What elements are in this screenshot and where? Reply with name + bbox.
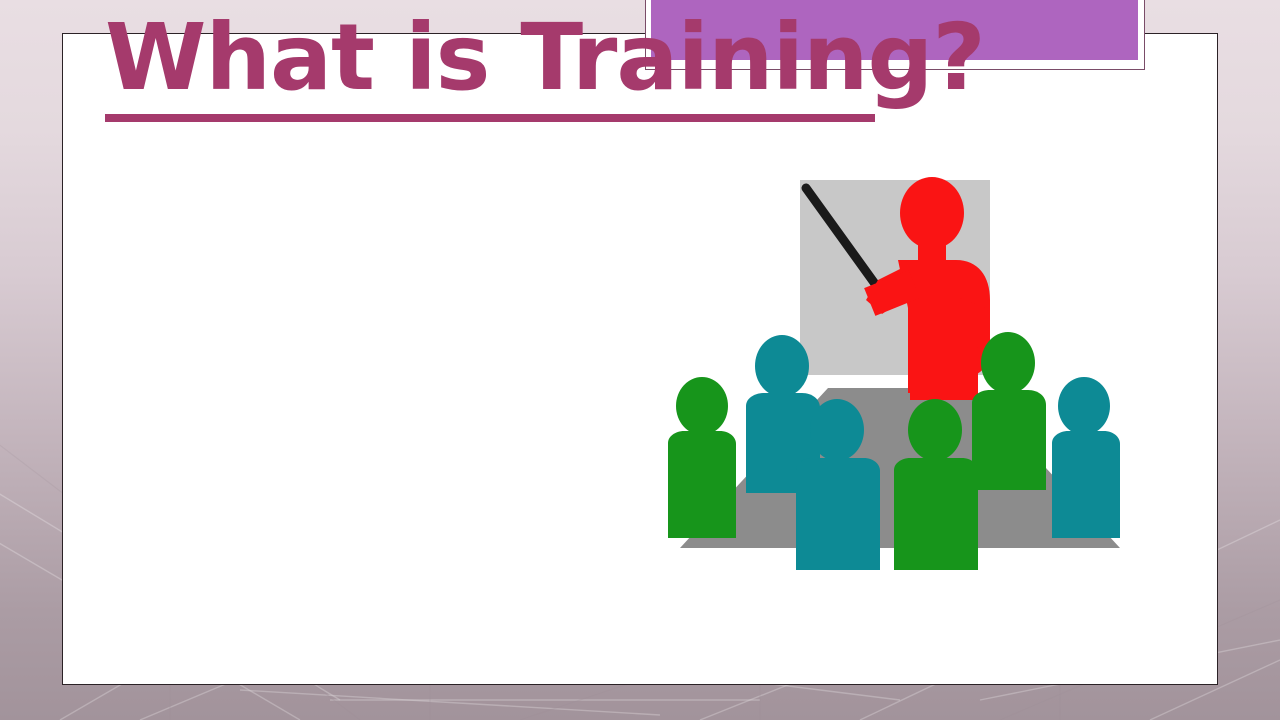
attendee-far-left-figure bbox=[668, 377, 736, 538]
instructor-head bbox=[900, 177, 964, 249]
slide-backdrop: What is Training? bbox=[0, 0, 1280, 720]
attendee-right-back-figure bbox=[972, 332, 1046, 490]
page-title: What is Training? bbox=[105, 12, 905, 104]
instructor-robe-lower bbox=[910, 348, 978, 400]
title-block: What is Training? bbox=[105, 12, 905, 122]
title-underline bbox=[105, 114, 875, 122]
attendee-far-right-figure bbox=[1052, 377, 1120, 538]
training-classroom-clipart bbox=[660, 148, 1140, 588]
